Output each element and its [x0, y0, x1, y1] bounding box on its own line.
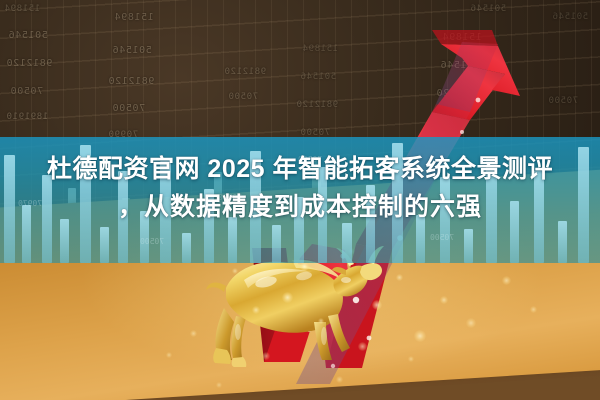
band-chart-bar: [342, 223, 352, 263]
banner-image: 1891910705009812120501546151894709907050…: [0, 0, 600, 400]
headline-line-1: 杜德配资官网 2025 年智能拓客系统全景测评: [18, 150, 582, 188]
band-chart-bar: [272, 225, 281, 263]
page-title: 杜德配资官网 2025 年智能拓客系统全景测评 ，从数据精度到成本控制的六强: [0, 150, 600, 226]
band-ticker-number: 70500: [140, 237, 164, 246]
band-chart-bar: [464, 229, 473, 263]
band-chart-bar: [100, 227, 109, 263]
band-chart-bar: [558, 221, 567, 263]
headline-line-2: ，从数据精度到成本控制的六强: [18, 188, 582, 226]
band-ticker-number: 70500: [430, 233, 454, 242]
band-chart-bar: [182, 233, 191, 263]
